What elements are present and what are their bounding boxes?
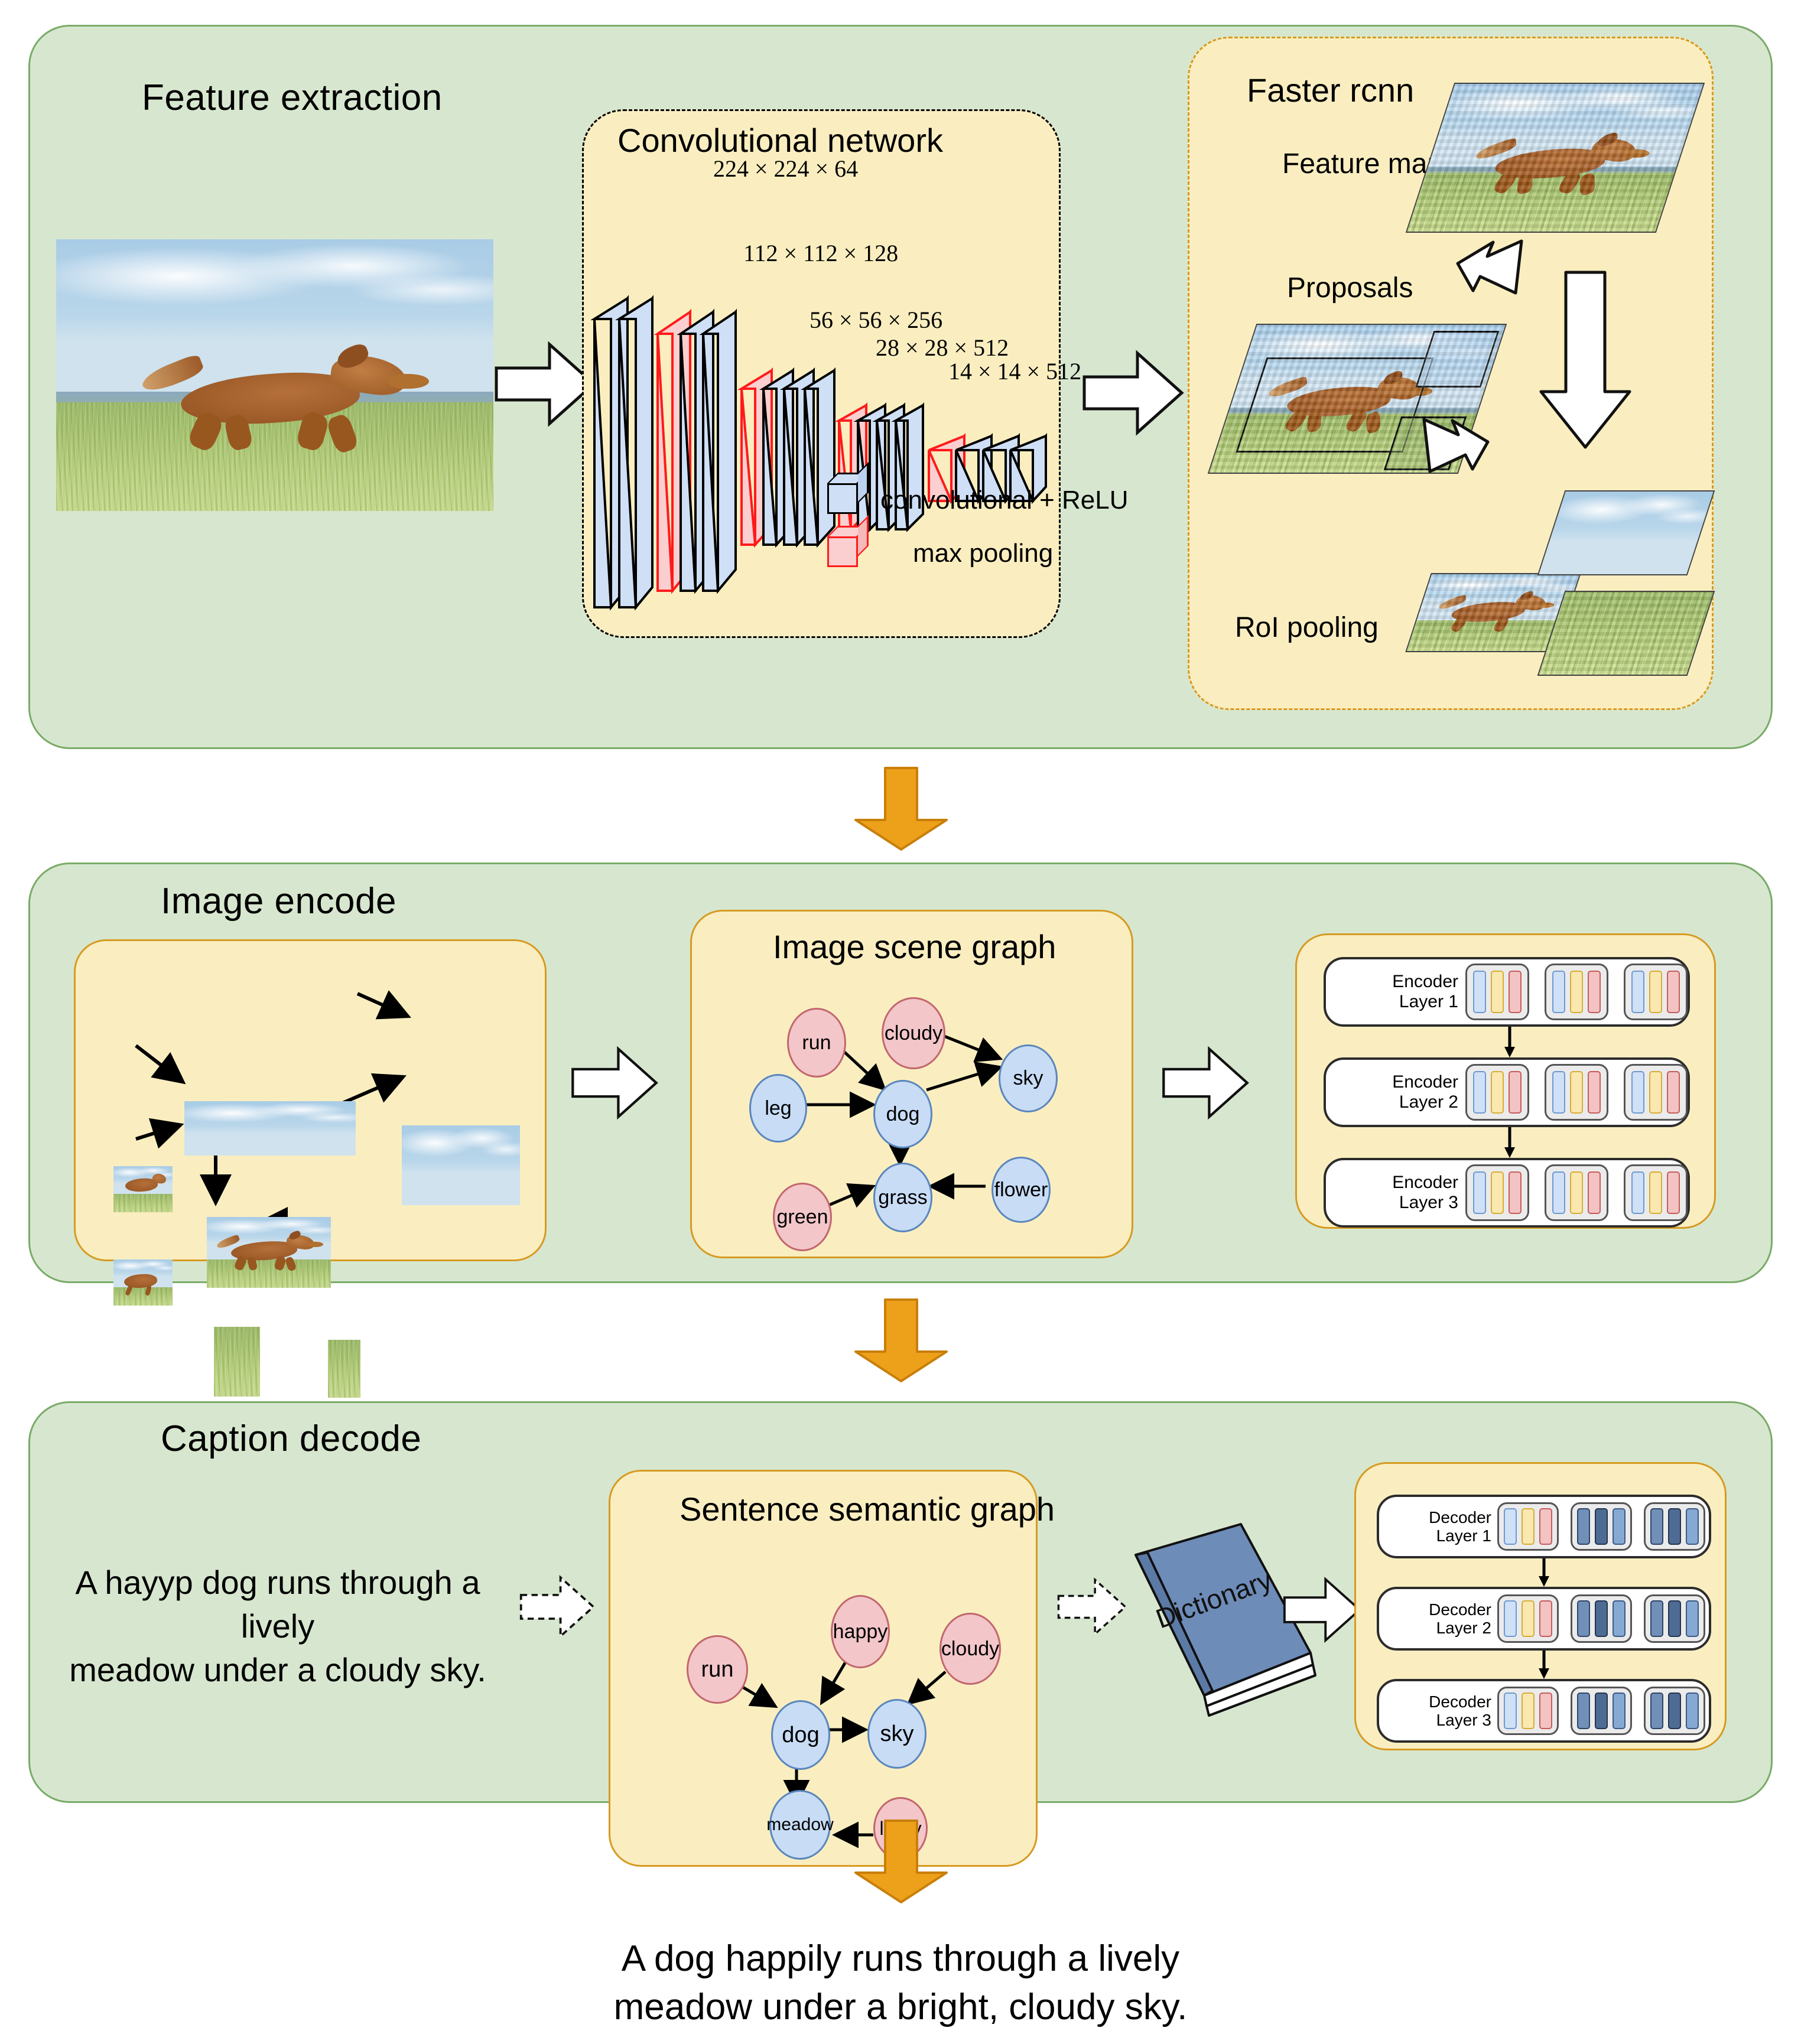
semantic-node-meadow[interactable]: meadow [769, 1790, 831, 1860]
decoder-layer-3: Decoder Layer 3 [1377, 1679, 1711, 1743]
pooled-sky-plate [1537, 490, 1715, 575]
token [1650, 1508, 1663, 1545]
token [1588, 1171, 1601, 1214]
token [1570, 1171, 1583, 1214]
token [1570, 971, 1583, 1013]
token [1649, 971, 1662, 1013]
stage-title-caption-decode: Caption decode [161, 1418, 421, 1460]
dog-silhouette [116, 1264, 169, 1298]
decoder-token-group [1644, 1687, 1705, 1735]
arrow-proposals-to-roi [1418, 414, 1495, 479]
token [1577, 1508, 1590, 1545]
token [1473, 971, 1486, 1013]
stage-arrow-2 [851, 1297, 951, 1384]
scene-node-grass[interactable]: grass [873, 1163, 932, 1232]
token [1539, 1600, 1552, 1637]
token [1509, 971, 1522, 1013]
arrow-image-to-conv [493, 340, 597, 428]
token [1509, 1071, 1522, 1114]
semantic-node-happy[interactable]: happy [831, 1595, 890, 1668]
decoder-layer-2-label: Decoder Layer 2 [1379, 1600, 1497, 1638]
decoder-token-group [1571, 1594, 1632, 1643]
token [1668, 1693, 1681, 1729]
arrow-regions-to-scenegraph [570, 1044, 659, 1121]
decoder-token-group [1644, 1594, 1705, 1643]
token [1522, 1693, 1535, 1729]
pooled-grass-plate [1537, 591, 1715, 676]
stage-title-image-encode: Image encode [161, 880, 396, 922]
token [1631, 1171, 1644, 1214]
arrow-conv-to-rcnn [1081, 349, 1185, 437]
arrow-dictionary-to-decoder [1282, 1571, 1362, 1648]
token [1668, 1600, 1681, 1637]
token [1552, 1171, 1565, 1214]
token [1649, 1171, 1662, 1214]
semantic-node-cloudy[interactable]: cloudy [939, 1613, 1001, 1685]
token [1595, 1693, 1608, 1729]
region-crop-sky-strip [184, 1101, 356, 1156]
token [1595, 1508, 1608, 1545]
stage-title-feature-extraction: Feature extraction [142, 77, 443, 119]
token [1588, 971, 1601, 1013]
token [1650, 1600, 1663, 1637]
decoder-layer-1-label: Decoder Layer 1 [1379, 1508, 1497, 1545]
cube-front-face [827, 536, 858, 567]
scene-node-dog[interactable]: dog [873, 1080, 932, 1148]
region-crop-dog-full [207, 1217, 331, 1288]
encoder-layer-1-label: Encoder Layer 1 [1326, 972, 1465, 1011]
token [1631, 1071, 1644, 1114]
panel-title-faster-rcnn: Faster rcnn [1247, 71, 1414, 109]
output-caption-text: A dog happily runs through a lively mead… [0, 1935, 1801, 2032]
encoder-layer-3-label: Encoder Layer 3 [1326, 1173, 1465, 1212]
scene-node-run[interactable]: run [787, 1008, 846, 1078]
decoder-layer-3-label: Decoder Layer 3 [1379, 1693, 1497, 1730]
decoder-token-group [1497, 1687, 1559, 1735]
decoder-token-group [1571, 1687, 1632, 1735]
token [1613, 1693, 1626, 1729]
legend-label-max-pooling: max pooling [913, 539, 1053, 568]
legend-label-convolutional: convolutional + ReLU [880, 486, 1128, 515]
dog-leg [125, 1285, 133, 1296]
encoder-token-group [1545, 1164, 1608, 1221]
decoder-token-group [1497, 1502, 1559, 1551]
dog-snout [308, 1242, 323, 1247]
token [1522, 1508, 1535, 1545]
encoder-arrow-2-3 [1501, 1127, 1519, 1158]
encoder-token-group [1624, 1064, 1688, 1121]
stage-arrow-3 [851, 1818, 951, 1905]
encoder-token-group [1545, 1064, 1608, 1121]
arrow-rcnn-down [1535, 269, 1636, 452]
arrow-featuremaps-to-proposals [1451, 236, 1527, 301]
token [1667, 1171, 1680, 1214]
arrow-semanticgraph-to-dictionary [1056, 1571, 1127, 1642]
decoder-arrow-2-3 [1535, 1651, 1553, 1679]
token [1539, 1693, 1552, 1729]
token [1491, 1171, 1504, 1214]
dog-silhouette [1426, 588, 1557, 636]
encoder-token-group [1465, 1164, 1529, 1221]
token [1686, 1508, 1699, 1545]
decoder-token-group [1571, 1502, 1632, 1551]
scene-node-leg[interactable]: leg [749, 1074, 807, 1143]
encoder-layer-2: Encoder Layer 2 [1324, 1057, 1690, 1127]
encoder-layer-3: Encoder Layer 3 [1324, 1158, 1690, 1228]
token [1577, 1693, 1590, 1729]
region-crop-meadow [214, 1327, 260, 1397]
cube-front-face [827, 483, 858, 514]
decoder-layer-1: Decoder Layer 1 [1377, 1495, 1711, 1558]
token [1539, 1508, 1552, 1545]
panel-title-convolutional-network: Convolutional network [617, 121, 943, 160]
token [1667, 971, 1680, 1013]
semantic-node-sky[interactable]: sky [867, 1699, 926, 1769]
feature-maps-plate [1406, 83, 1705, 233]
scene-node-flower[interactable]: flower [991, 1157, 1051, 1223]
token [1570, 1071, 1583, 1114]
region-crop-dog-legs [113, 1259, 173, 1306]
scene-node-cloudy[interactable]: cloudy [882, 997, 945, 1069]
encoder-arrow-1-2 [1501, 1027, 1519, 1057]
token [1504, 1508, 1517, 1545]
encoder-token-group [1545, 964, 1608, 1020]
decoder-layer-2: Decoder Layer 2 [1377, 1587, 1711, 1651]
token [1613, 1508, 1626, 1545]
token [1577, 1600, 1590, 1637]
dog-silhouette [117, 1169, 169, 1202]
encoder-token-group [1465, 964, 1529, 1020]
token [1473, 1171, 1486, 1214]
token [1491, 1071, 1504, 1114]
token [1667, 1071, 1680, 1114]
semantic-node-dog[interactable]: dog [771, 1700, 830, 1770]
dog-leg [326, 412, 360, 455]
decoder-token-group [1644, 1502, 1705, 1551]
token [1504, 1600, 1517, 1637]
token [1522, 1600, 1535, 1637]
region-embedding-sky [402, 1125, 520, 1205]
region-crop-flower [328, 1340, 360, 1398]
dog-snout [389, 374, 429, 389]
token [1650, 1693, 1663, 1729]
region-crop-dog-head [113, 1166, 173, 1212]
token [1649, 1071, 1662, 1114]
token [1504, 1693, 1517, 1729]
token [1552, 1071, 1565, 1114]
token [1491, 971, 1504, 1013]
dog-leg [1579, 172, 1595, 197]
legend-cube-convolutional [827, 473, 869, 514]
encoder-token-group [1624, 1164, 1688, 1221]
token [1686, 1600, 1699, 1637]
token [1631, 971, 1644, 1013]
input-image [56, 239, 493, 511]
dog-silhouette [135, 337, 423, 460]
region-graph-arrows [74, 939, 547, 1261]
encoder-token-group [1465, 1064, 1529, 1121]
label-proposals: Proposals [1287, 272, 1413, 304]
dog-leg [285, 1257, 297, 1272]
decoder-token-group [1497, 1594, 1559, 1643]
token [1668, 1508, 1681, 1545]
decoder-arrow-1-2 [1535, 1558, 1553, 1587]
token [1595, 1600, 1608, 1637]
dog-silhouette [214, 1228, 321, 1274]
semantic-node-run[interactable]: run [687, 1635, 748, 1704]
dog-silhouette [1457, 128, 1654, 199]
token [1473, 1071, 1486, 1114]
dog-leg [1449, 616, 1468, 633]
scene-node-green[interactable]: green [773, 1183, 832, 1251]
encoder-layer-1: Encoder Layer 1 [1324, 957, 1690, 1027]
encoder-token-group [1624, 964, 1688, 1020]
dog-leg [1491, 170, 1519, 196]
token [1686, 1693, 1699, 1729]
legend-cube-max-pooling [827, 526, 869, 567]
encoder-layer-2-label: Encoder Layer 2 [1326, 1072, 1465, 1112]
input-caption-text: A hayyp dog runs through a lively meadow… [41, 1561, 514, 1692]
token [1613, 1600, 1626, 1637]
arrow-scenegraph-to-encoder [1161, 1044, 1250, 1121]
token [1552, 971, 1565, 1013]
label-roi-pooling: RoI pooling [1235, 611, 1379, 644]
token [1509, 1171, 1522, 1214]
stage-arrow-1 [851, 766, 951, 852]
token [1588, 1071, 1601, 1114]
scene-node-sky[interactable]: sky [999, 1044, 1058, 1112]
arrow-caption-to-semanticgraph [519, 1568, 596, 1645]
